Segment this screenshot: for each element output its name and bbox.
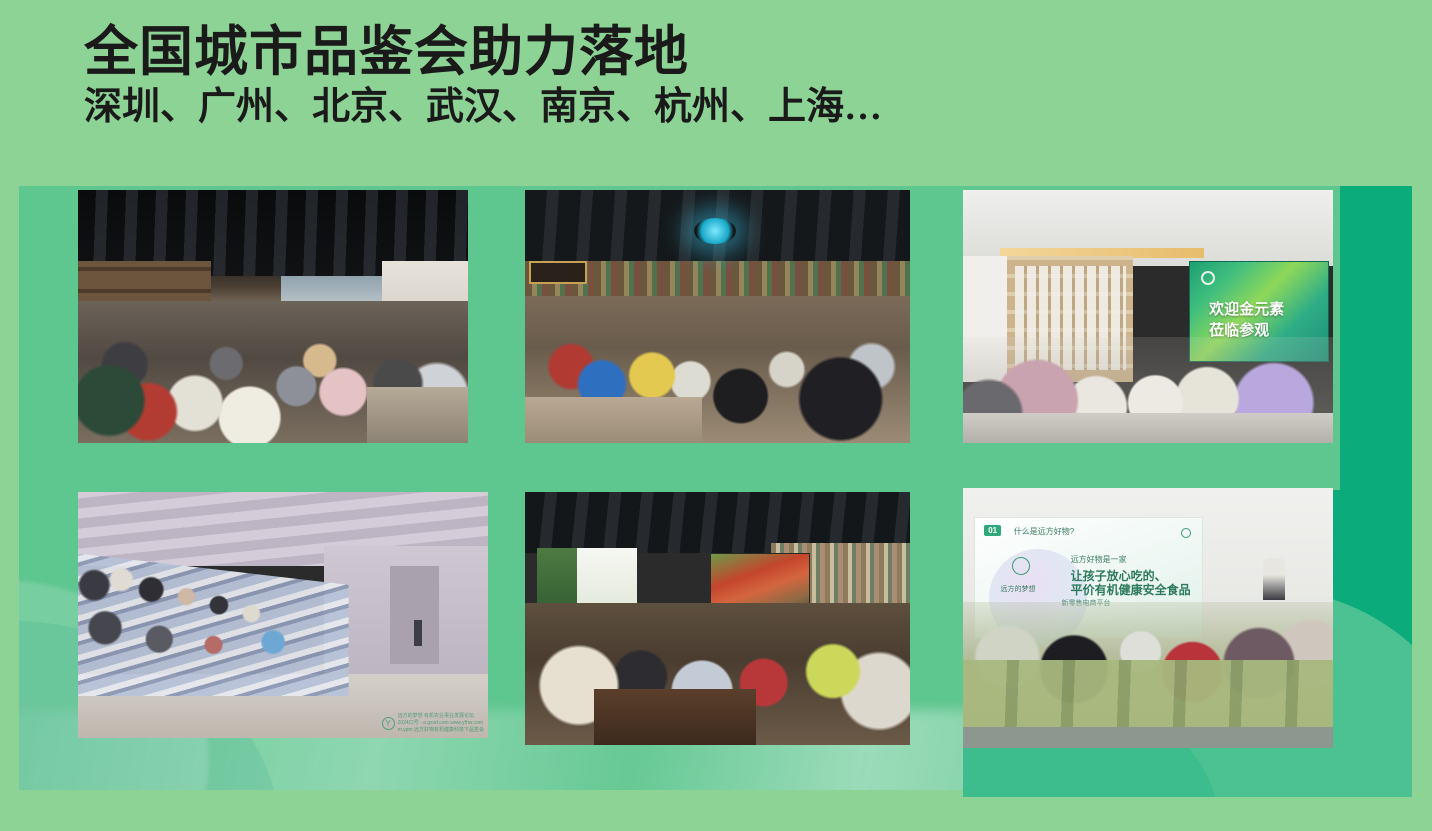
photo-bookstore-hands-up bbox=[525, 190, 910, 443]
photo-2-store-sign bbox=[529, 261, 587, 284]
photo-bookstore-presentation bbox=[525, 492, 910, 745]
photo-auditorium-conference: Y 远方的梦想 有机农业事业发展论坛 2024口号 · a.gxxd.com w… bbox=[78, 492, 488, 738]
photo-4-audience bbox=[78, 554, 349, 697]
photo-seminar-room: 01 什么是远方好物? 远方的梦想 远方好物是一家 让孩子放心吃的、 平价有机健… bbox=[963, 488, 1333, 748]
photo-2-floor bbox=[525, 397, 702, 443]
slide-bubble-icon bbox=[1012, 557, 1030, 575]
photo-4-door bbox=[390, 566, 439, 664]
slide-heading: 什么是远方好物? bbox=[1014, 526, 1074, 537]
photo-6-floor bbox=[963, 727, 1333, 748]
photo-2-projector-beam-icon bbox=[694, 218, 736, 244]
photo-4-watermark: Y 远方的梦想 有机农业事业发展论坛 2024口号 · a.gxxd.com w… bbox=[382, 713, 484, 733]
photo-1-content bbox=[78, 190, 468, 443]
slide-line-2: 平价有机健康安全食品 bbox=[1071, 581, 1191, 598]
photo-3-brand-logo-icon bbox=[1201, 271, 1215, 285]
watermark-logo-icon: Y bbox=[382, 717, 395, 730]
photo-1-floor bbox=[367, 387, 468, 443]
slide-bubble-label: 远方的梦想 bbox=[1000, 584, 1035, 594]
photo-showroom-tour: 欢迎金元素 莅临参观 bbox=[963, 190, 1333, 443]
title-block: 全国城市品鉴会助力落地 深圳、广州、北京、武汉、南京、杭州、上海… bbox=[84, 22, 882, 132]
photo-2-content bbox=[525, 190, 910, 443]
watermark-line-2: 2024口号 · a.gxxd.com www.yfhw.com bbox=[398, 720, 484, 726]
watermark-line-1: 远方的梦想 有机农业事业发展论坛 bbox=[398, 713, 484, 719]
page-title: 全国城市品鉴会助力落地 bbox=[84, 22, 882, 82]
slide-root: 全国城市品鉴会助力落地 深圳、广州、北京、武汉、南京、杭州、上海… bbox=[0, 0, 1432, 831]
photo-6-content: 01 什么是远方好物? 远方的梦想 远方好物是一家 让孩子放心吃的、 平价有机健… bbox=[963, 488, 1333, 748]
photo-3-floor bbox=[963, 413, 1333, 443]
photo-3-screen-line1: 欢迎金元素 bbox=[1209, 298, 1284, 319]
slide-lead-text: 远方好物是一家 bbox=[1071, 554, 1127, 565]
photo-4-content: Y 远方的梦想 有机农业事业发展论坛 2024口号 · a.gxxd.com w… bbox=[78, 492, 488, 738]
watermark-text: 远方的梦想 有机农业事业发展论坛 2024口号 · a.gxxd.com www… bbox=[398, 713, 484, 733]
photo-6-speaker bbox=[1263, 558, 1285, 600]
photo-bookstore-cafe-crowd bbox=[78, 190, 468, 443]
slide-badge: 01 bbox=[984, 525, 1001, 536]
photo-3-content: 欢迎金元素 莅临参观 bbox=[963, 190, 1333, 443]
page-subtitle: 深圳、广州、北京、武汉、南京、杭州、上海… bbox=[84, 84, 882, 132]
watermark-line-3: m.ypm 远方好物有机健康科技下品签会 bbox=[398, 727, 484, 733]
decor-panel-teal-upper bbox=[1340, 186, 1412, 496]
photo-5-table bbox=[594, 689, 756, 745]
slide-brand-logo-icon bbox=[1181, 528, 1191, 538]
photo-4-speaker bbox=[414, 620, 422, 646]
photo-5-content bbox=[525, 492, 910, 745]
